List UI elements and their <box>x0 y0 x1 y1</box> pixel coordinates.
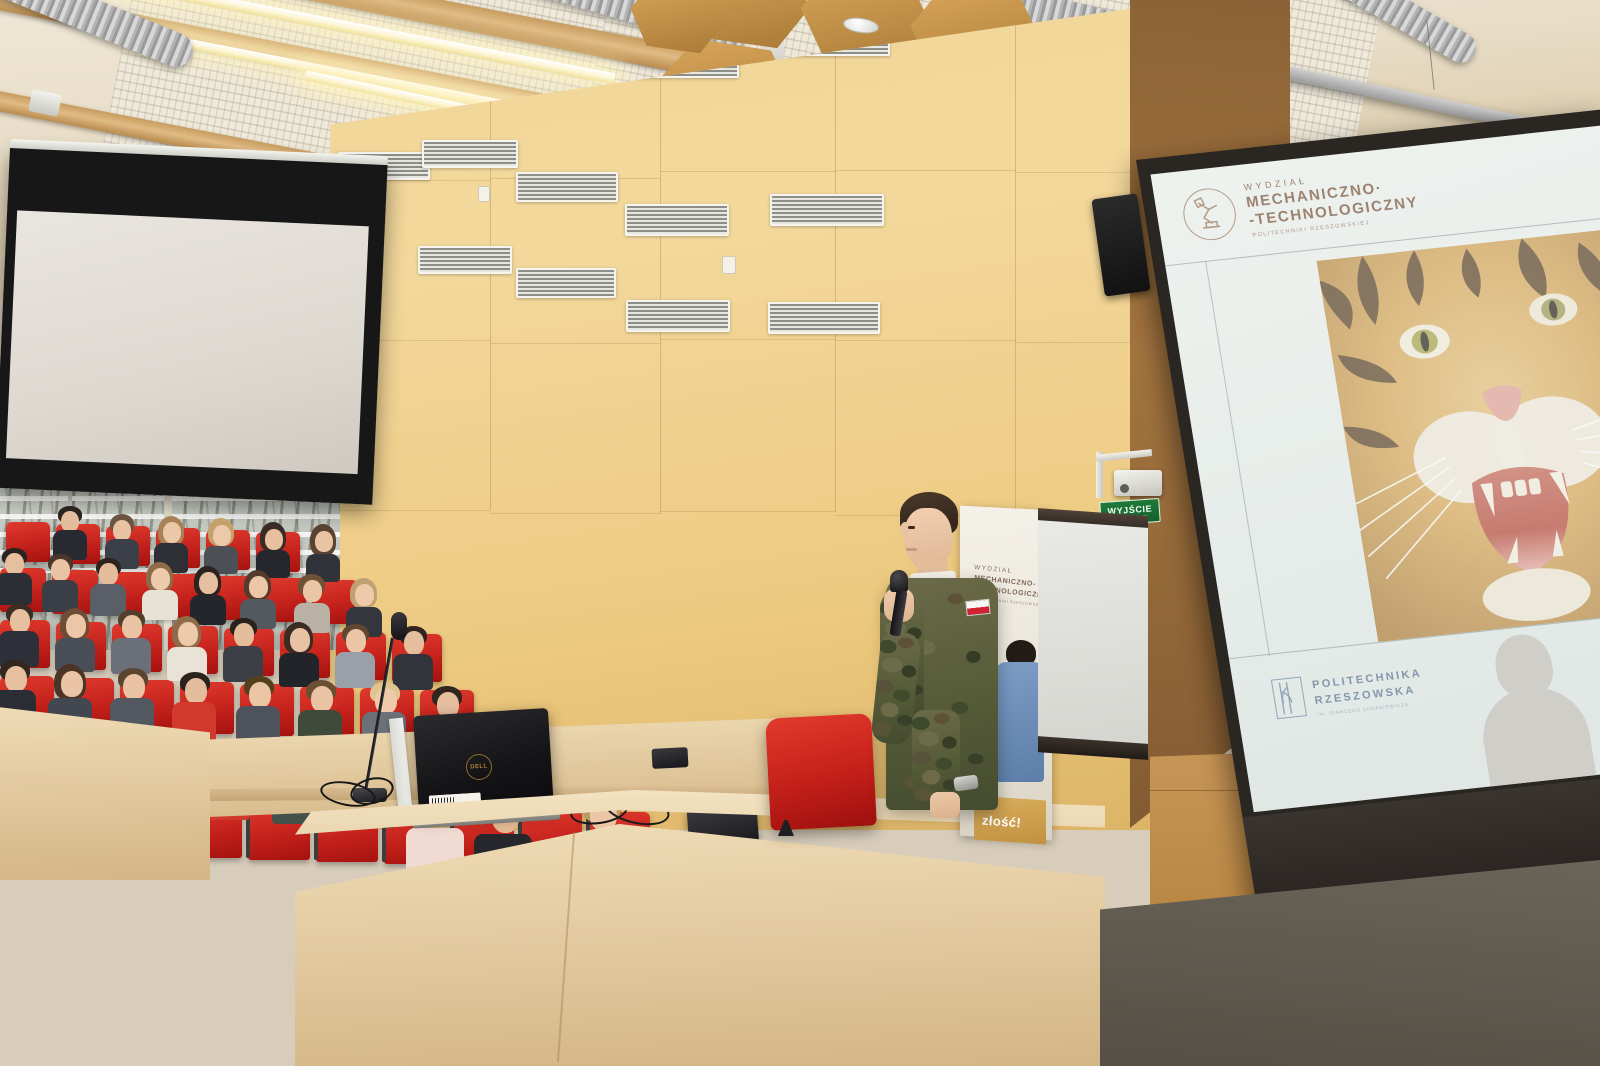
projection-screen-left[interactable] <box>0 148 388 505</box>
ventilation-grille <box>770 194 884 226</box>
ventilation-grille <box>422 140 518 168</box>
handheld-microphone[interactable] <box>890 570 908 592</box>
robotic-arm-logo-icon <box>1180 186 1240 243</box>
presenter-chair[interactable] <box>762 716 880 836</box>
lecture-hall-photo: WYDZIAŁ MECHANICZNO· -TECHNOLOGICZNY POL… <box>0 0 1600 1066</box>
podium-front <box>295 824 1105 1066</box>
polish-flag-patch <box>965 599 990 616</box>
presenter-face <box>904 508 952 570</box>
ventilation-grille <box>418 246 512 274</box>
dell-logo-text: DELL <box>470 763 488 770</box>
politechnika-rzeszowska-logo-icon <box>1271 677 1307 720</box>
tiger-image <box>1316 226 1600 642</box>
desk-control-box[interactable] <box>652 747 689 769</box>
ventilation-grille <box>516 172 618 202</box>
whiteboard <box>1038 512 1148 762</box>
ventilation-grille <box>768 302 880 334</box>
ventilation-grille <box>626 300 730 332</box>
ceiling-projector <box>1090 452 1162 500</box>
ventilation-grille <box>625 204 729 236</box>
presenter <box>870 492 1035 842</box>
ventilation-grille <box>516 268 616 298</box>
screen-surface-blank <box>6 210 369 474</box>
